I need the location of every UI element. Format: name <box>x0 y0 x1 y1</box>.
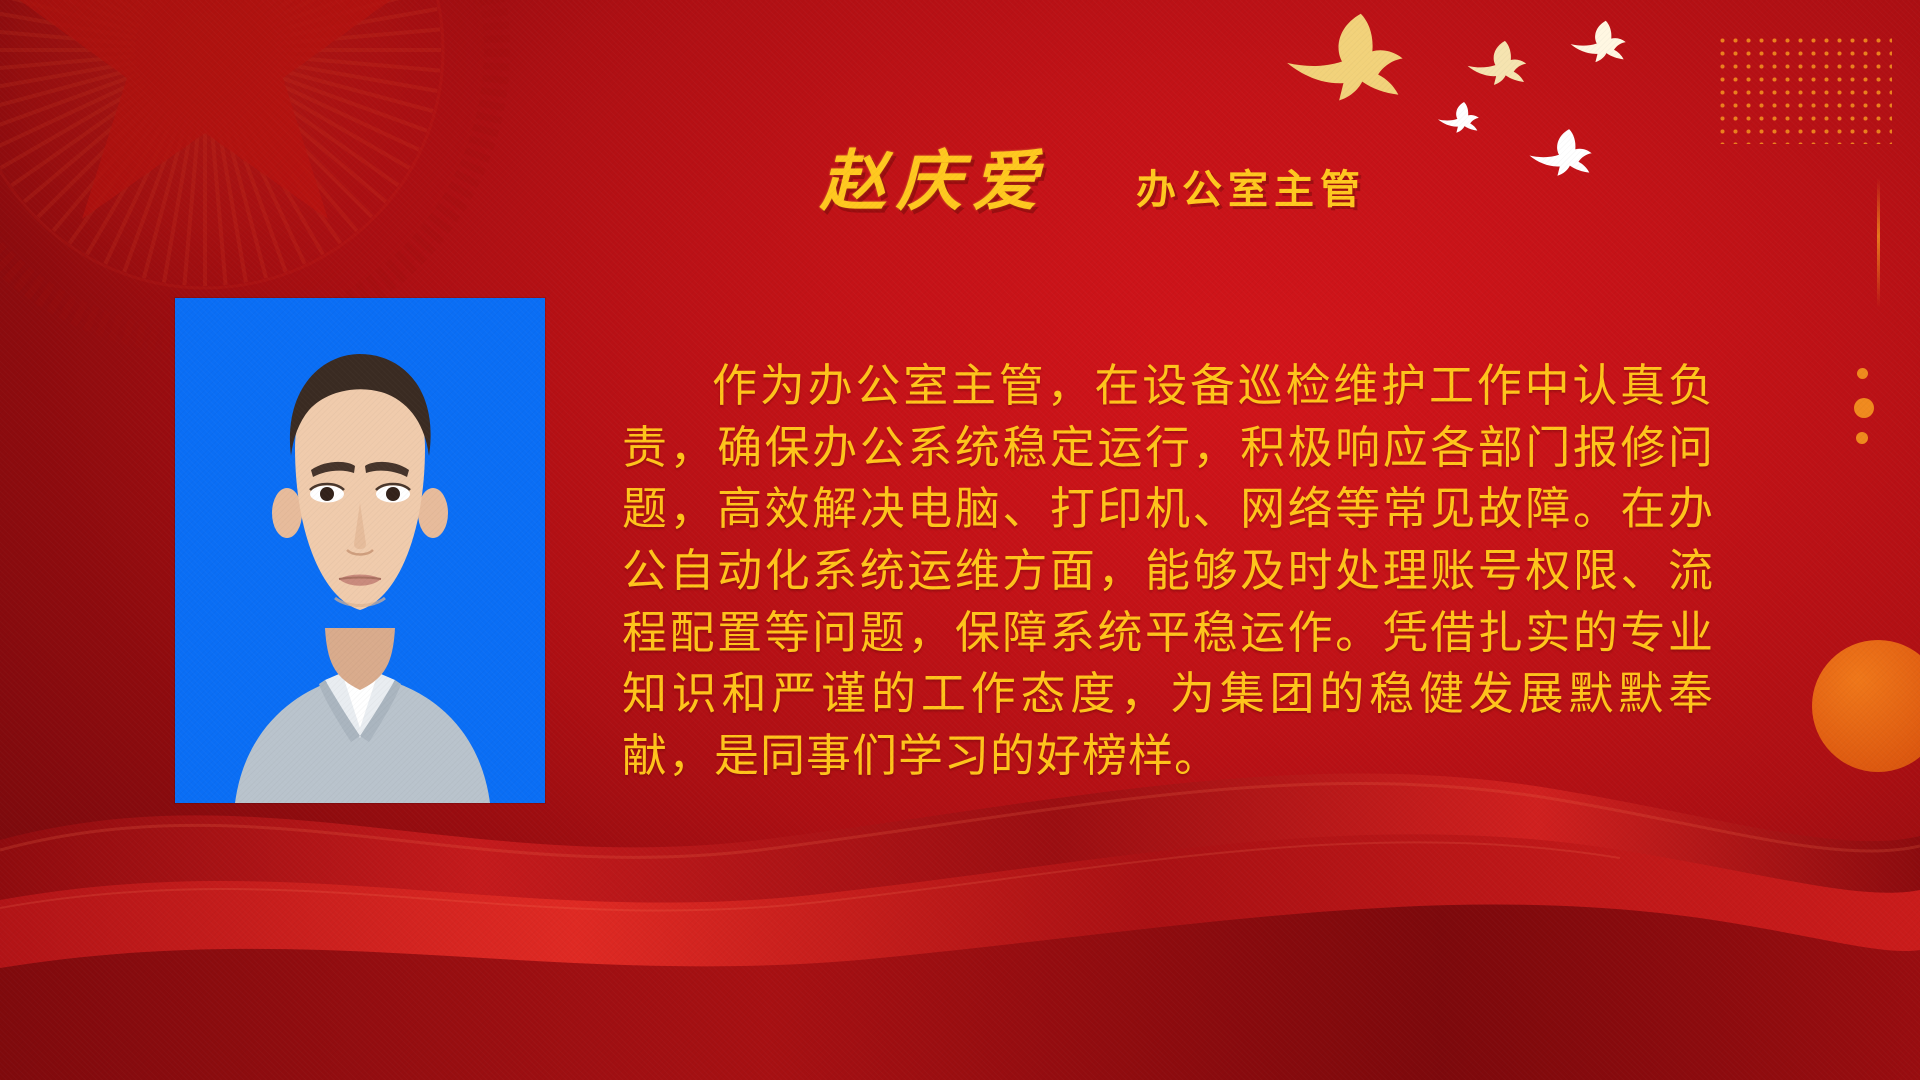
role-subtitle: 办公室主管 <box>1136 170 1366 216</box>
accent-line <box>1877 178 1880 308</box>
dove-icon <box>1280 8 1430 138</box>
page-title: 赵庆爱 <box>820 150 1048 216</box>
accent-dot-small <box>1857 368 1868 379</box>
dove-icon <box>1566 18 1640 80</box>
dove-icon <box>1462 38 1542 104</box>
accent-dot-medium <box>1854 398 1874 418</box>
halftone-dot-grid <box>1716 34 1892 144</box>
avatar <box>175 298 545 803</box>
description-paragraph: 作为办公室主管，在设备巡检维护工作中认真负责，确保办公系统稳定运行，积极响应各部… <box>622 355 1714 786</box>
dove-icon <box>1524 126 1608 196</box>
header: 赵庆爱 办公室主管 <box>820 150 1366 216</box>
slide-canvas: 赵庆爱 办公室主管 作为办公室主管，在设备巡检维护工作中认真负责，确保办公系统稳… <box>0 0 1920 1080</box>
accent-dot-small-2 <box>1856 432 1868 444</box>
dove-icon <box>1434 100 1490 146</box>
portrait-photo <box>175 298 545 803</box>
